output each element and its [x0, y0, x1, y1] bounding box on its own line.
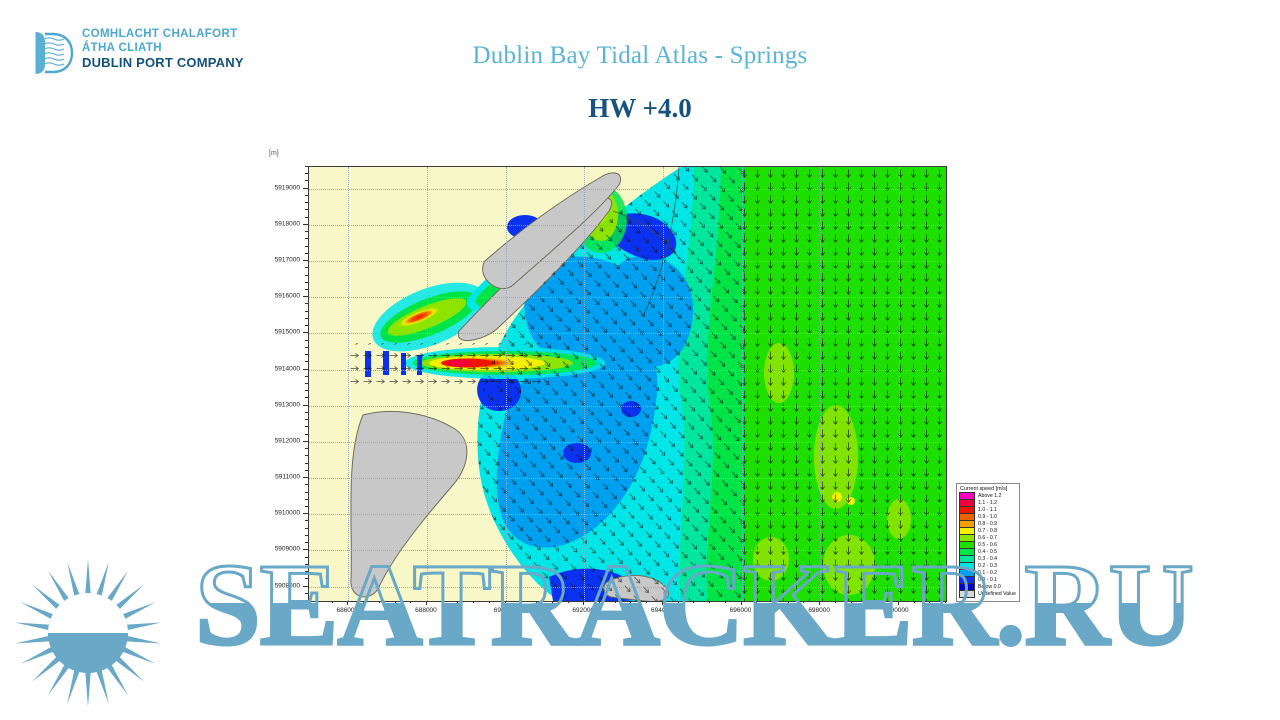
y-axis-tick-label: 5916000 [275, 293, 300, 300]
y-axis-tick-label: 5911000 [275, 474, 300, 481]
tidal-atlas-figure: [m] [m] 59080005909000591000059110005912… [262, 145, 952, 635]
legend-entry-label: 0.4 - 0.5 [978, 549, 997, 555]
x-axis-tick-label: 700000 [887, 607, 909, 614]
legend-entry-label: 0.1 - 0.2 [978, 570, 997, 576]
legend-entry-label: 0.2 - 0.3 [978, 563, 997, 569]
legend-title: Current speed [m/s] [960, 486, 1017, 492]
speed-field-layer [309, 167, 946, 601]
logo-line-1: COMHLACHT CHALAFORT [82, 28, 244, 42]
x-axis-tick-label: 694000 [651, 607, 673, 614]
current-speed-map [308, 166, 947, 602]
legend-entry-label: 0.8 - 0.9 [978, 521, 997, 527]
y-axis-tick-label: 5917000 [275, 257, 300, 264]
legend-entry-label: 1.0 - 1.1 [978, 507, 997, 513]
legend-entry-label: 0.3 - 0.4 [978, 556, 997, 562]
legend-entry-label: Undefined Value [978, 591, 1016, 597]
legend-entry-label: 0.0 - 0.1 [978, 577, 997, 583]
y-axis-unit-label: [m] [269, 150, 279, 157]
x-axis-tick-label: 696000 [730, 607, 752, 614]
y-axis-tick-label: 5913000 [275, 401, 300, 408]
x-axis: 6860006880006900006920006940006960006980… [308, 600, 945, 618]
vector-arrows-channel [349, 343, 549, 385]
x-axis-tick-label: 690000 [494, 607, 516, 614]
y-axis-tick-label: 5919000 [275, 184, 300, 191]
y-axis-tick-label: 5914000 [275, 365, 300, 372]
legend-entry-label: 0.6 - 0.7 [978, 535, 997, 541]
page-subtitle: HW +4.0 [0, 93, 1280, 124]
y-axis-tick-label: 5915000 [275, 329, 300, 336]
legend-entry-label: 1.1 - 1.2 [978, 500, 997, 506]
sun-icon [8, 558, 168, 708]
y-axis-tick-label: 5908000 [275, 582, 300, 589]
x-axis-tick-label: 692000 [572, 607, 594, 614]
legend-entry-label: 0.7 - 0.8 [978, 528, 997, 534]
y-axis: 5908000590900059100005911000591200059130… [262, 166, 308, 600]
y-axis-tick-label: 5912000 [275, 437, 300, 444]
legend-entry: Undefined Value [959, 591, 1017, 597]
y-axis-tick-label: 5910000 [275, 510, 300, 517]
legend-swatch [959, 590, 975, 598]
x-axis-tick-label: 688000 [415, 607, 437, 614]
y-axis-tick-label: 5918000 [275, 220, 300, 227]
x-axis-tick-label: 698000 [808, 607, 830, 614]
legend-entry-label: Above 1.2 [978, 493, 1001, 499]
legend-rows: Above 1.21.1 - 1.21.0 - 1.10.9 - 1.00.8 … [959, 493, 1017, 597]
legend-entry-label: 0.5 - 0.6 [978, 542, 997, 548]
x-axis-tick-label: 686000 [336, 607, 358, 614]
legend-entry-label: Below 0.0 [978, 584, 1001, 590]
current-speed-legend: Current speed [m/s] Above 1.21.1 - 1.21.… [956, 483, 1020, 602]
y-axis-tick-label: 5909000 [275, 546, 300, 553]
legend-entry-label: 0.9 - 1.0 [978, 514, 997, 520]
vector-arrows-open-sea [737, 167, 946, 601]
page-title: Dublin Bay Tidal Atlas - Springs [0, 42, 1280, 70]
